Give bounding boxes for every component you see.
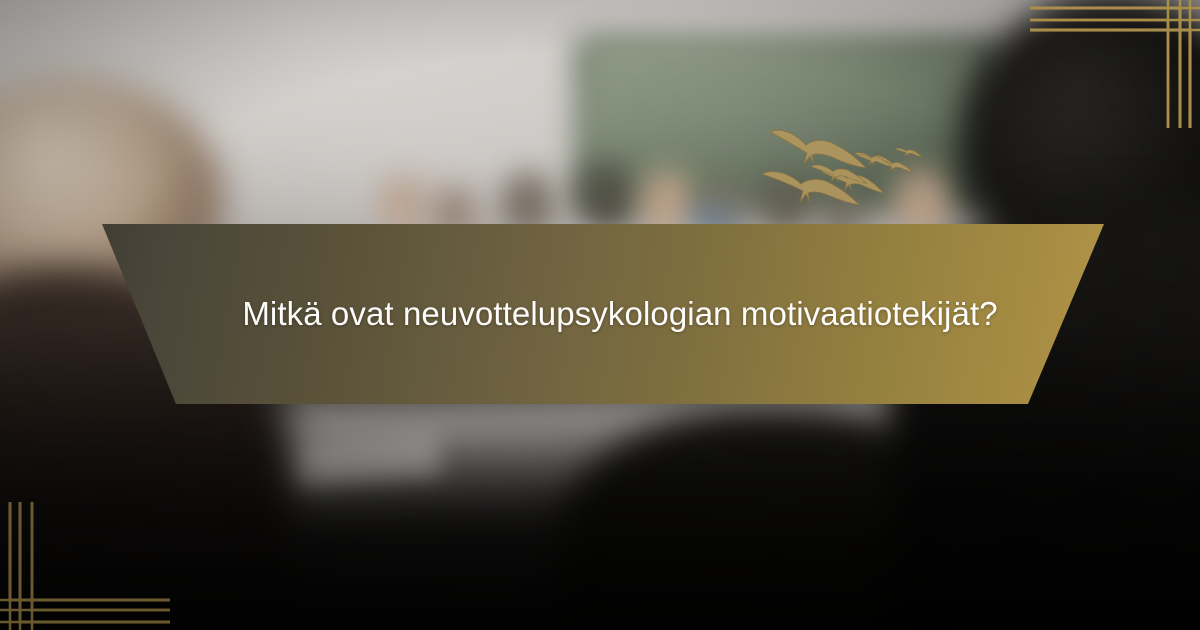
background-person-blur <box>578 162 636 232</box>
title-banner: Mitkä ovat neuvottelupsykologian motivaa… <box>96 224 1104 404</box>
social-card: Mitkä ovat neuvottelupsykologian motivaa… <box>0 0 1200 630</box>
title-banner-inner: Mitkä ovat neuvottelupsykologian motivaa… <box>96 290 1104 339</box>
page-title: Mitkä ovat neuvottelupsykologian motivaa… <box>206 290 1034 339</box>
